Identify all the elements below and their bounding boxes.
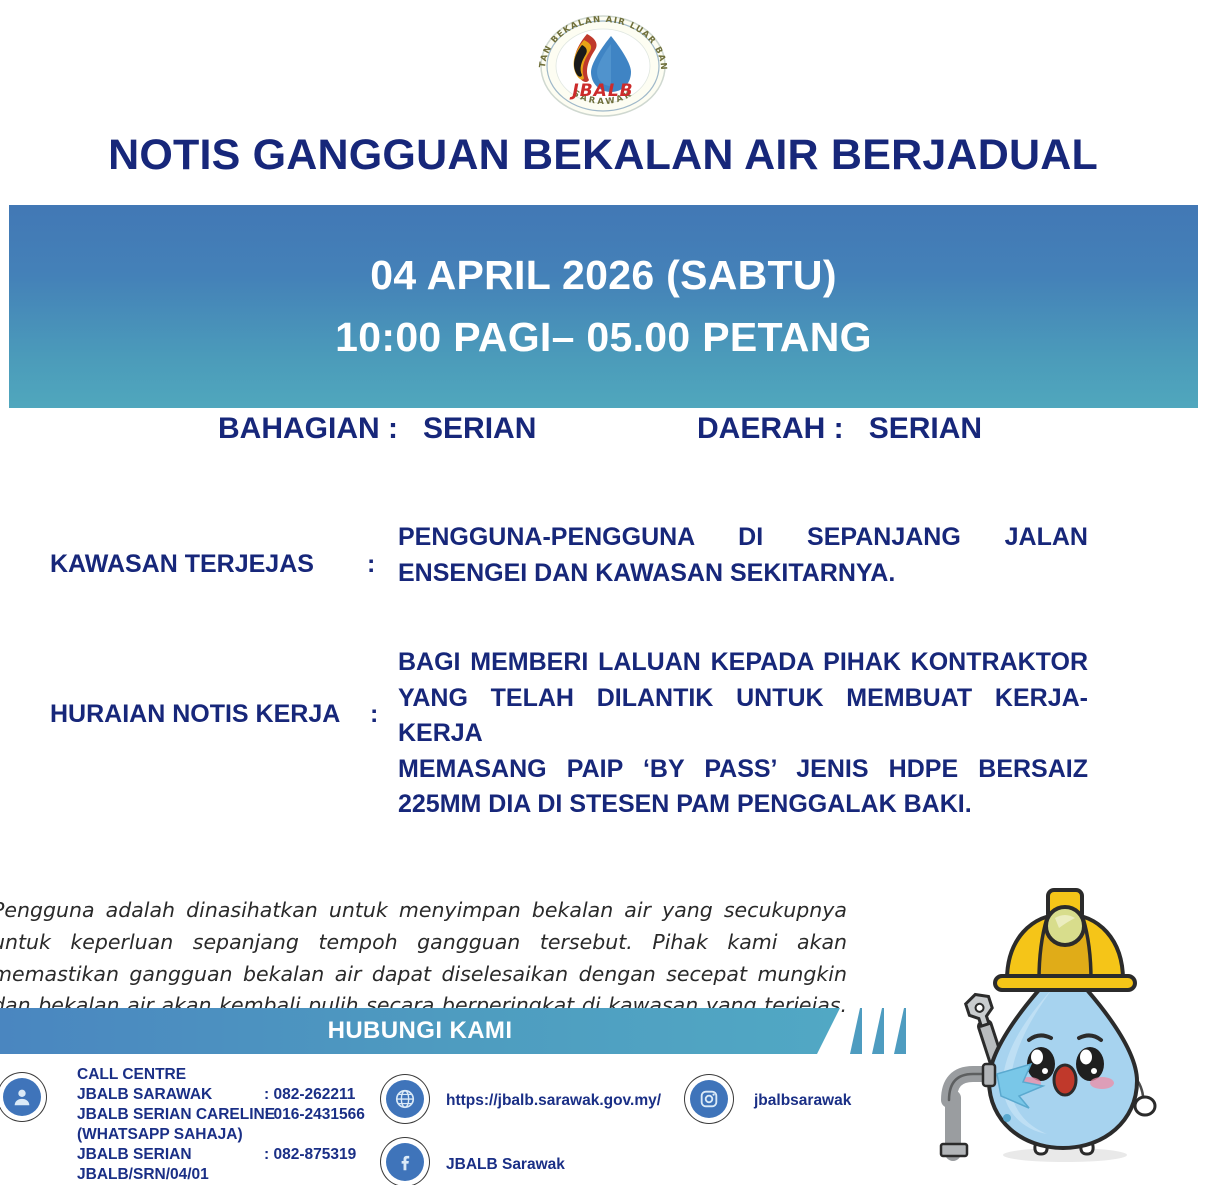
kawasan-terjejas-label: KAWASAN TERJEJAS (50, 550, 314, 579)
daerah-group: DAERAH : SERIAN (697, 412, 982, 446)
contact-name-1: JBALB SERIAN CARELINE (77, 1105, 275, 1125)
kawasan-terjejas-colon: : (367, 550, 375, 579)
contact-line-jbalb-serian: JBALB SERIAN : 082-875319 (77, 1145, 209, 1165)
huraian-line-1: BAGI MEMBERI LALUAN KEPADA PIHAK KONTRAK… (398, 645, 1088, 681)
instagram-icon[interactable] (690, 1080, 728, 1118)
contact-value-3: : 082-875319 (264, 1145, 356, 1165)
contact-name-0: JBALB SARAWAK (77, 1085, 212, 1105)
facebook-icon[interactable] (386, 1143, 424, 1181)
daerah-label: DAERAH : (697, 412, 844, 445)
contact-value-0: : 082-262211 (264, 1085, 355, 1105)
facebook-handle[interactable]: JBALB Sarawak (446, 1156, 565, 1174)
call-centre-heading: CALL CENTRE (77, 1065, 209, 1085)
contact-line-jbalb-sarawak: JBALB SARAWAK : 082-262211 (77, 1085, 209, 1105)
huraian-notis-kerja-label: HURAIAN NOTIS KERJA (50, 700, 340, 729)
call-centre-block: CALL CENTRE JBALB SARAWAK : 082-262211 J… (77, 1065, 209, 1185)
contact-value-1: : 016-2431566 (264, 1105, 365, 1125)
kawasan-line-1: PENGGUNA-PENGGUNA DI SEPANJANG JALAN (398, 520, 1088, 556)
notice-time: 10:00 PAGI– 05.00 PETANG (335, 308, 872, 367)
daerah-value: SERIAN (869, 412, 982, 445)
huraian-line-4: 225MM DIA DI STESEN PAM PENGGALAK BAKI. (398, 787, 1088, 823)
notice-reference: JBALB/SRN/04/01 (77, 1165, 209, 1185)
page-title: NOTIS GANGGUAN BEKALAN AIR BERJADUAL (0, 131, 1206, 180)
banner-stripe-2 (868, 1008, 884, 1054)
facebook-glyph (394, 1151, 416, 1173)
region-row: BAHAGIAN : SERIAN DAERAH : SERIAN (0, 412, 1206, 454)
huraian-line-2: YANG TELAH DILANTIK UNTUK MEMBUAT KERJA-… (398, 681, 1088, 752)
banner-stripe-1 (846, 1008, 862, 1054)
instagram-glyph (698, 1088, 720, 1110)
jbalb-logo-icon: JABATAN BEKALAN AIR LUAR BANDAR SARAWAK … (527, 14, 679, 118)
notice-poster: JABATAN BEKALAN AIR LUAR BANDAR SARAWAK … (0, 0, 1206, 1182)
website-url[interactable]: https://jbalb.sarawak.gov.my/ (446, 1092, 661, 1110)
logo-brand-text: JBALB (569, 81, 633, 101)
person-glyph (11, 1086, 33, 1108)
contact-name-3: JBALB SERIAN (77, 1145, 192, 1165)
notice-date: 04 APRIL 2026 (SABTU) (370, 246, 837, 305)
kawasan-terjejas-value: PENGGUNA-PENGGUNA DI SEPANJANG JALAN ENS… (398, 520, 1088, 591)
contact-line-serian-careline: JBALB SERIAN CARELINE : 016-2431566 (77, 1105, 209, 1125)
bahagian-label: BAHAGIAN : (218, 412, 398, 445)
hubungi-kami-banner: HUBUNGI KAMI (0, 1008, 910, 1054)
hubungi-kami-title: HUBUNGI KAMI (0, 1008, 840, 1054)
date-banner: 04 APRIL 2026 (SABTU) 10:00 PAGI– 05.00 … (9, 205, 1198, 408)
globe-glyph (394, 1088, 416, 1110)
kawasan-line-2: ENSENGEI DAN KAWASAN SEKITARNYA. (398, 556, 1088, 592)
banner-stripe-3 (890, 1008, 906, 1054)
logo-container: JABATAN BEKALAN AIR LUAR BANDAR SARAWAK … (0, 12, 1206, 120)
huraian-notis-kerja-value: BAGI MEMBERI LALUAN KEPADA PIHAK KONTRAK… (398, 645, 1088, 823)
contact-name-2: (WHATSAPP SAHAJA) (77, 1125, 243, 1145)
contact-line-whatsapp-note: (WHATSAPP SAHAJA) (77, 1125, 209, 1145)
globe-icon[interactable] (386, 1080, 424, 1118)
bahagian-value: SERIAN (423, 412, 536, 445)
huraian-line-3: MEMASANG PAIP ‘BY PASS’ JENIS HDPE BERSA… (398, 752, 1088, 788)
instagram-handle[interactable]: jbalbsarawak (754, 1092, 851, 1110)
bahagian-group: BAHAGIAN : SERIAN (218, 412, 536, 446)
huraian-notis-kerja-colon: : (370, 700, 378, 729)
water-droplet-mascot-icon (935, 868, 1190, 1168)
person-icon (3, 1078, 41, 1116)
